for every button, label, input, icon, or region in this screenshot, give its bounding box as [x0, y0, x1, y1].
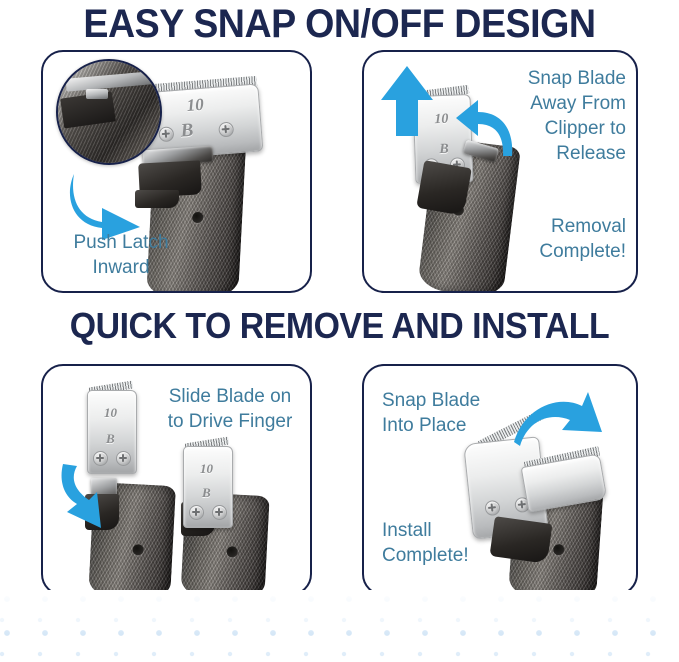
panel-3-caption: Slide Blade on to Drive Finger [151, 384, 309, 434]
panel-2-caption-secondary: Removal Complete! [484, 214, 626, 264]
panel-1-caption: Push Latch Inward [51, 230, 191, 280]
blade-screw-right [218, 121, 234, 137]
blade-plate-right: 10 B [183, 446, 233, 528]
latch-arm [416, 160, 472, 216]
blade-brand-marking: B [180, 120, 194, 143]
curved-down-arrow [59, 462, 125, 536]
blade-size-marking-right: 10 [200, 461, 213, 477]
clipper-body-hole [553, 544, 565, 556]
blade-screw-left [484, 500, 500, 516]
blade-brand-marking-left: B [106, 431, 115, 447]
latch-closeup-inset [56, 59, 162, 165]
panel-4-caption: Snap Blade Into Place [382, 388, 522, 438]
panel-4-caption-secondary: Install Complete! [382, 518, 522, 568]
page-title-middle: QUICK TO REMOVE AND INSTALL [20, 306, 658, 346]
blade-size-marking-left: 10 [104, 405, 117, 421]
panel-2-caption: Snap Blade Away From Clipper to Release [484, 66, 626, 166]
panel-push-latch-inward: 10 B Push Latch Inward [41, 50, 312, 293]
panel-snap-blade-into-place: Snap Blade Into Place Install Complete! [362, 364, 638, 596]
clipper-body-hole-right [226, 546, 238, 558]
blade-brand-marking-right: B [202, 485, 211, 501]
curved-right-down-arrow [512, 392, 604, 454]
page-title-top: EASY SNAP ON/OFF DESIGN [20, 2, 658, 46]
blade-screw-right-a [189, 505, 204, 520]
panel-slide-blade-on: 10 B 10 B Slid [41, 364, 312, 596]
infographic-root: EASY SNAP ON/OFF DESIGN 10 B [0, 0, 679, 662]
blade-screw-right-b [212, 505, 227, 520]
clipper-body-hole [192, 212, 204, 223]
panel-snap-blade-away: 10 B Snap Blade Away From Clipper to Rel… [362, 50, 638, 293]
straight-up-arrow [379, 64, 435, 138]
decorative-dot-pattern [0, 590, 679, 662]
inset-latch-tip [86, 89, 108, 99]
blade-brand-marking: B [439, 142, 449, 158]
blade-size-marking: 10 [186, 95, 205, 116]
blade-screw-left [158, 126, 174, 142]
clipper-body-hole-left [132, 544, 144, 556]
blade-size-marking: 10 [434, 112, 449, 128]
